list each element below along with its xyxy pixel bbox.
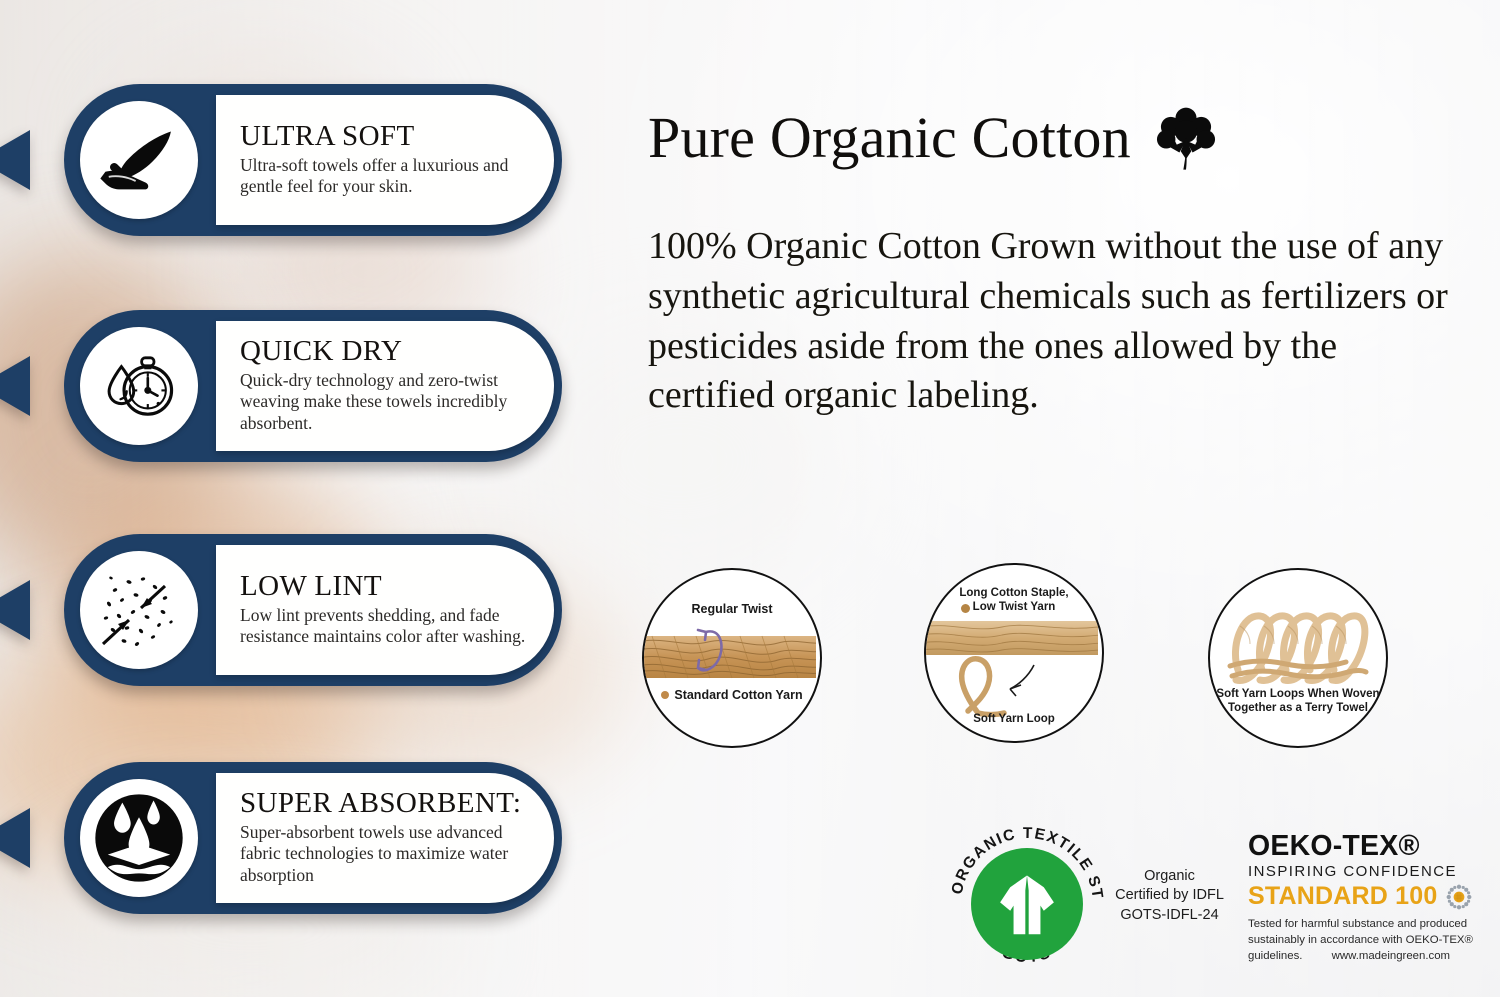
feature-text-panel: SUPER ABSORBENT: Super-absorbent towels … [216,773,554,903]
gots-caption-line-3: GOTS-IDFL-24 [1107,906,1232,925]
pill-body: ULTRA SOFT Ultra-soft towels offer a lux… [64,84,562,236]
cotton-boll-icon [1153,104,1219,172]
feature-description: Quick-dry technology and zero-twist weav… [240,370,528,435]
feature-description: Low lint prevents shedding, and fade res… [240,605,528,648]
feature-text-panel: ULTRA SOFT Ultra-soft towels offer a lux… [216,95,554,225]
feature-title: LOW LINT [240,572,528,602]
oeko-sunburst-icon [1445,883,1473,911]
water-absorption-fabric-icon [80,779,198,897]
yarn-bottom-label: Soft Yarn Loops When Woven Together as a… [1210,688,1386,715]
oekotex-badge: OEKO-TEX® INSPIRING CONFIDENCE STANDARD … [1248,832,1483,964]
oekotex-brand: OEKO-TEX® [1248,832,1483,861]
yarn-bullet-dot [961,604,970,613]
gots-caption-line-1: Organic [1107,867,1232,886]
feature-title: SUPER ABSORBENT: [240,789,528,819]
certifications: GLOBAL ORGANIC TEXTILE STANDARD · GOTS ·… [935,812,1480,987]
pill-tail [0,808,30,868]
gots-badge: GLOBAL ORGANIC TEXTILE STANDARD · GOTS · [943,820,1111,988]
gots-tshirt-icon [971,848,1083,960]
body-paragraph: 100% Organic Cotton Grown without the us… [648,222,1460,421]
oekotex-standard: STANDARD 100 [1248,884,1437,909]
feature-description: Super-absorbent towels use advanced fabr… [240,822,528,887]
yarn-diagram-low-twist: Long Cotton Staple, Low Twist Yarn Soft … [924,563,1104,743]
yarn-bottom-label: Standard Cotton Yarn [644,688,820,703]
feature-card-low-lint[interactable]: LOW LINT Low lint prevents shedding, and… [22,534,562,686]
pill-body: LOW LINT Low lint prevents shedding, and… [64,534,562,686]
yarn-diagram-regular-twist: Regular Twist Standard Cotton Yarn [642,568,822,748]
pill-tail [0,580,30,640]
oekotex-fine-print: Tested for harmful substance and produce… [1248,916,1493,965]
oekotex-tagline: INSPIRING CONFIDENCE [1248,864,1483,879]
gots-caption-line-2: Certified by IDFL [1107,886,1232,905]
feature-text-panel: LOW LINT Low lint prevents shedding, and… [216,545,554,675]
headline-text: Pure Organic Cotton [648,109,1131,167]
pill-tail [0,130,30,190]
lint-particles-arrows-icon [80,551,198,669]
pill-body: QUICK DRY Quick-dry technology and zero-… [64,310,562,462]
feather-in-hand-icon [80,101,198,219]
feature-card-super-absorbent[interactable]: SUPER ABSORBENT: Super-absorbent towels … [22,762,562,914]
feature-card-quick-dry[interactable]: QUICK DRY Quick-dry technology and zero-… [22,310,562,462]
yarn-diagrams: Regular Twist Standard Cotton Yarn [642,563,1387,748]
yarn-bullet-dot [661,691,669,699]
pill-body: SUPER ABSORBENT: Super-absorbent towels … [64,762,562,914]
feature-card-ultra-soft[interactable]: ULTRA SOFT Ultra-soft towels offer a lux… [22,84,562,236]
gots-caption: Organic Certified by IDFL GOTS-IDFL-24 [1107,867,1232,925]
yarn-top-label: Long Cotton Staple, Low Twist Yarn [926,587,1102,614]
feature-title: ULTRA SOFT [240,122,528,152]
pill-tail [0,356,30,416]
feature-text-panel: QUICK DRY Quick-dry technology and zero-… [216,321,554,451]
stopwatch-droplet-icon [80,327,198,445]
yarn-top-label: Regular Twist [644,602,820,617]
feature-title: QUICK DRY [240,337,528,367]
oekotex-url: www.madeingreen.com [1332,948,1450,964]
yarn-diagram-terry-loops: Soft Yarn Loops When Woven Together as a… [1208,568,1388,748]
page-title: Pure Organic Cotton [648,104,1219,172]
yarn-bottom-label: Soft Yarn Loop [926,713,1102,727]
feature-description: Ultra-soft towels offer a luxurious and … [240,155,528,198]
